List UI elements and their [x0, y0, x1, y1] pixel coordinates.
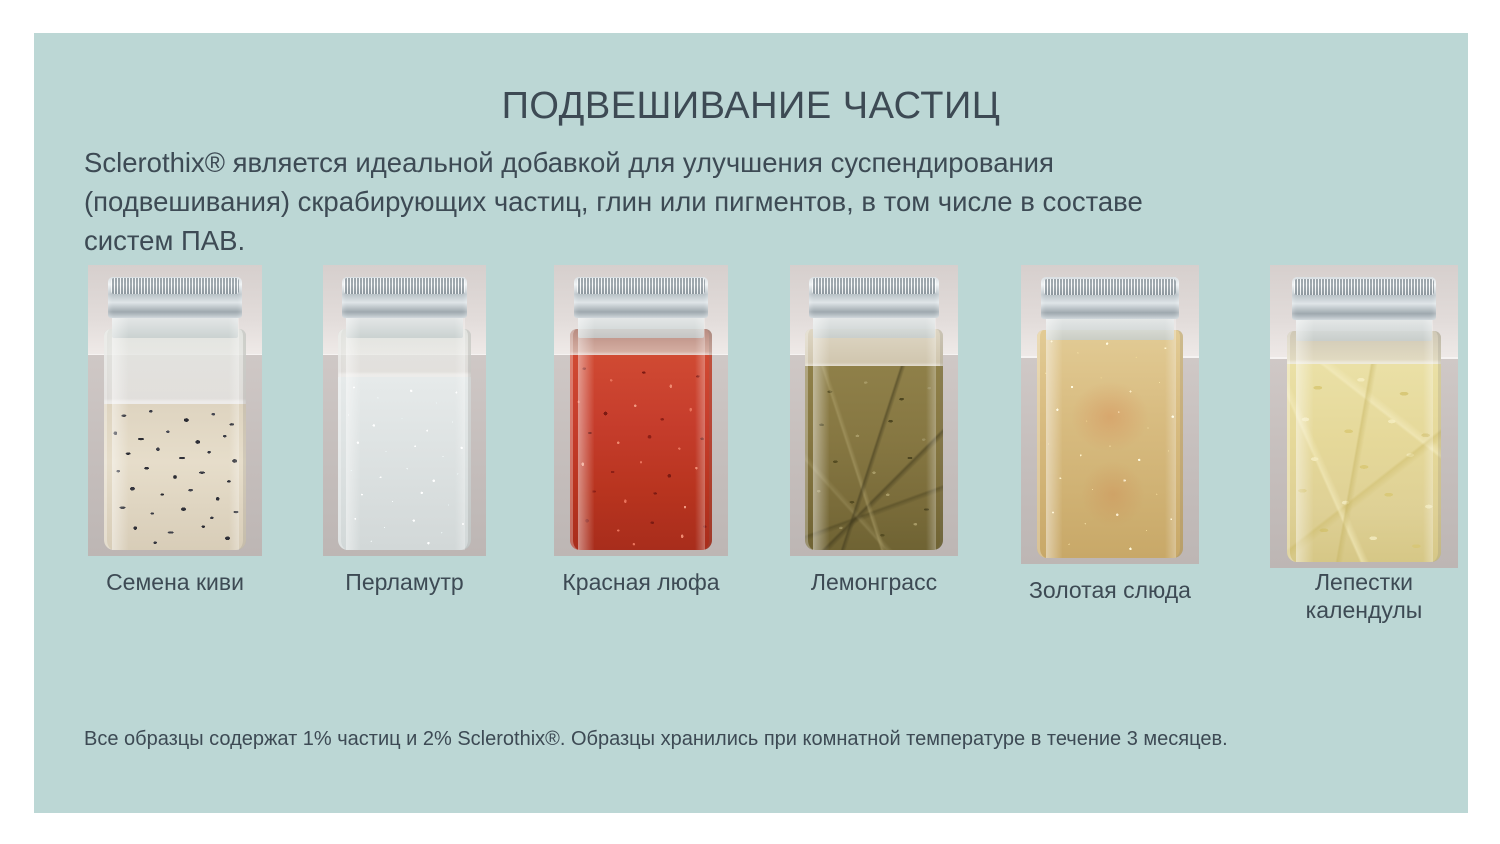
- body-paragraph: Sclerothix® является идеальной добавкой …: [84, 143, 1417, 260]
- sample-label-4: Лемонграсс: [766, 568, 982, 596]
- slide-canvas: ПОДВЕШИВАНИЕ ЧАСТИЦ Sclerothix® является…: [34, 33, 1468, 813]
- jar-lid: [342, 277, 468, 318]
- sample-photo-calendula-petals: [1270, 265, 1458, 568]
- sample-cell-1: Семена киви: [88, 265, 262, 556]
- jar-lid: [108, 277, 242, 318]
- sample-label-1: Семена киви: [64, 568, 286, 596]
- sample-label-3: Красная люфа: [530, 568, 752, 596]
- jar-illustration: [805, 277, 943, 551]
- sample-label-6: Лепестки календулы: [1258, 568, 1468, 624]
- jar-illustration: [338, 277, 472, 551]
- jar-lid: [574, 277, 708, 318]
- sample-label-6-line1: Лепестки: [1258, 568, 1468, 596]
- jar-lid: [1041, 277, 1178, 319]
- sample-cell-2: Перламутр: [323, 265, 486, 556]
- jar-illustration: [1037, 277, 1183, 558]
- sample-cell-3: Красная люфа: [554, 265, 728, 556]
- jar-contents: [338, 377, 472, 550]
- jar-lid: [809, 277, 939, 318]
- jar-contents: [1287, 364, 1441, 562]
- sample-photo-pearl: [323, 265, 486, 556]
- jar-illustration: [104, 277, 247, 551]
- jar-contents: [104, 404, 247, 550]
- sample-cell-6: Лепестки календулы: [1270, 265, 1458, 568]
- sample-photo-lemongrass: [790, 265, 958, 556]
- sample-photo-kiwi-seeds: [88, 265, 262, 556]
- sample-cell-4: Лемонграсс: [790, 265, 958, 556]
- footnote-text: Все образцы содержат 1% частиц и 2% Scle…: [84, 725, 1434, 754]
- body-line-1: Sclerothix® является идеальной добавкой …: [84, 143, 1417, 182]
- body-line-3: систем ПАВ.: [84, 221, 1417, 260]
- jar-contents: [805, 366, 943, 550]
- jar-contents: [1037, 330, 1183, 558]
- sample-photo-golden-mica: [1021, 265, 1199, 564]
- sample-jar-row: Семена киви: [34, 265, 1468, 565]
- jar-contents: [570, 355, 713, 550]
- body-line-2: (подвешивания) скрабирующих частиц, глин…: [84, 182, 1417, 221]
- sample-label-6-line2: календулы: [1258, 596, 1468, 624]
- jar-illustration: [570, 277, 713, 551]
- sample-label-2: Перламутр: [299, 568, 510, 596]
- page-title: ПОДВЕШИВАНИЕ ЧАСТИЦ: [34, 86, 1468, 128]
- sample-photo-red-luffa: [554, 265, 728, 556]
- sample-label-5: Золотая слюда: [997, 576, 1223, 604]
- sample-cell-5: Золотая слюда: [1021, 265, 1199, 564]
- jar-lid: [1292, 277, 1437, 320]
- jar-illustration: [1287, 277, 1441, 562]
